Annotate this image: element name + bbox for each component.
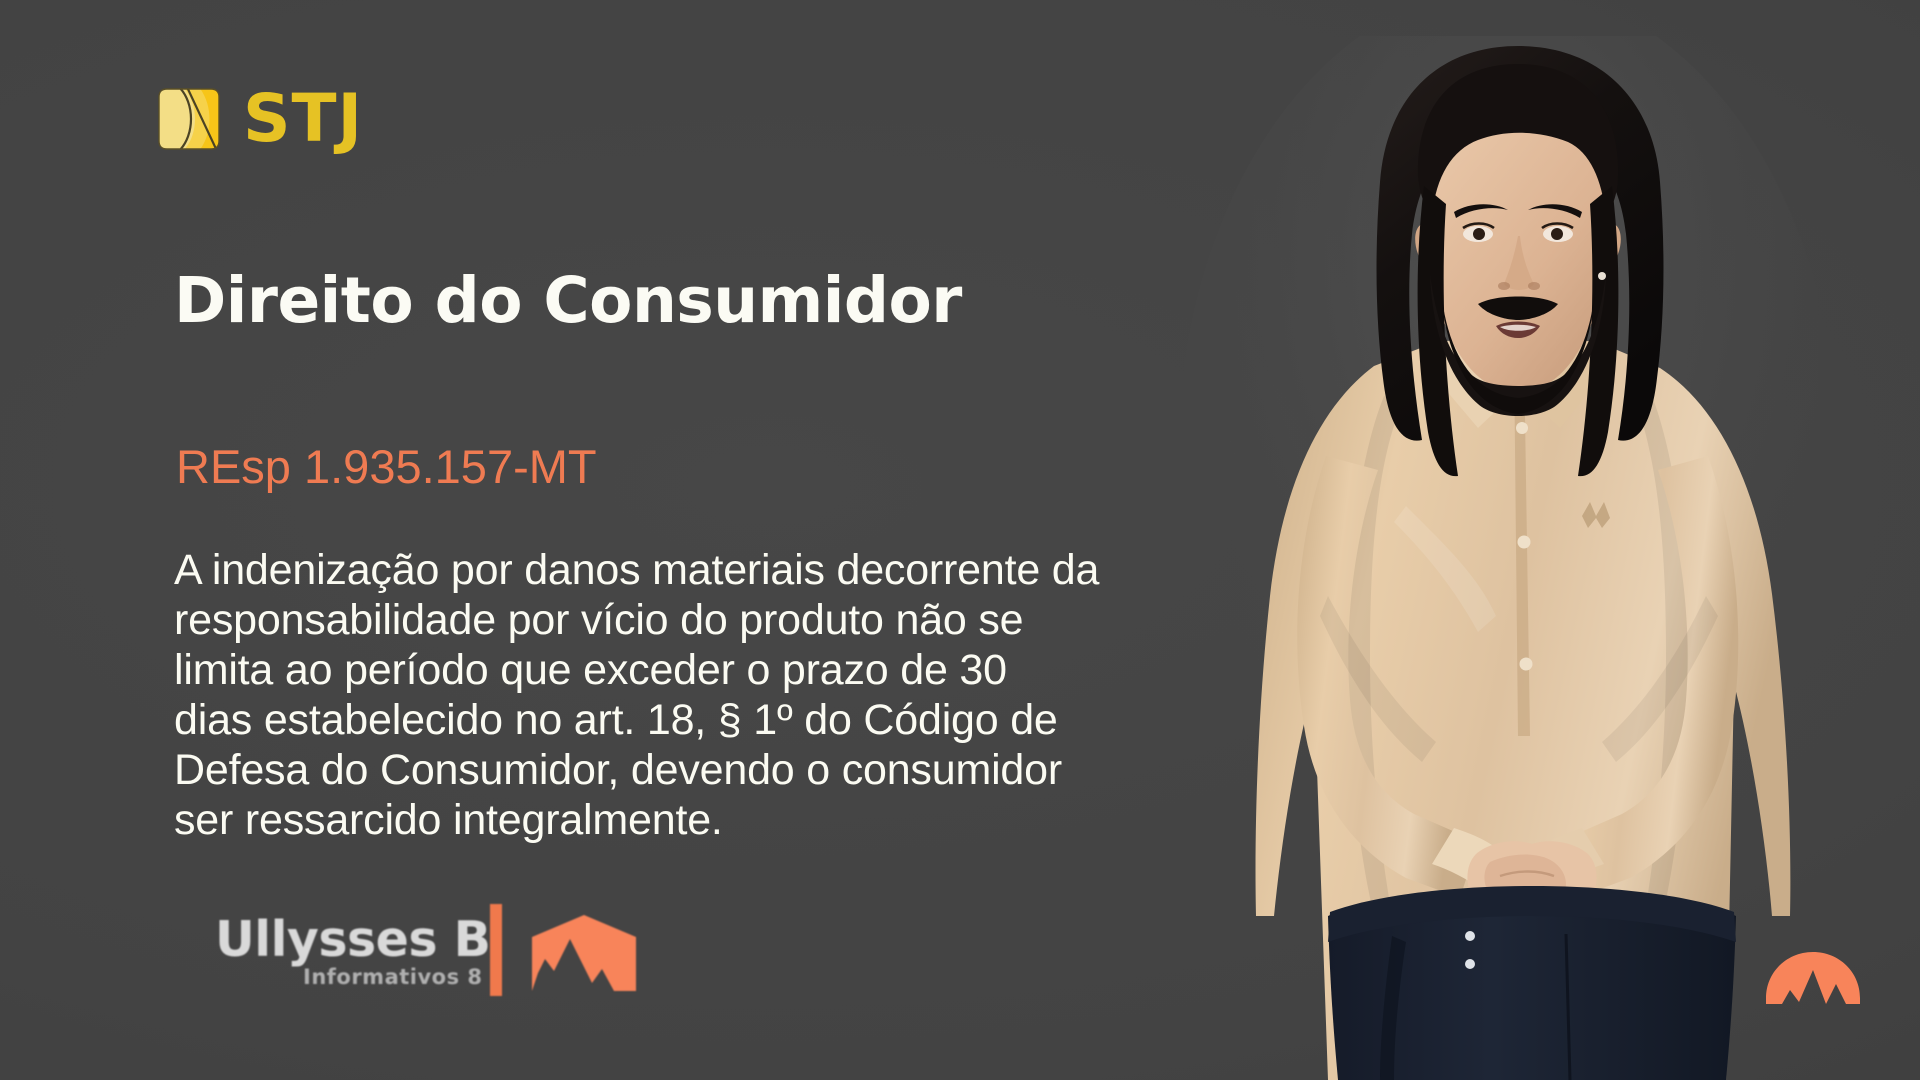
slide-title: Direito do Consumidor [174,268,962,334]
mountain-dome-logo-icon [1766,952,1860,1032]
stj-brand-lockup: STJ [157,86,363,152]
body-line: dias estabelecido no art. 18, § 1º do Có… [174,695,1354,745]
slide-canvas: STJ Direito do Consumidor REsp 1.935.157… [0,0,1920,1080]
body-line: ser ressarcido integralmente. [174,795,1354,845]
stj-logo-mark-icon [157,87,221,151]
case-number: REsp 1.935.157-MT [176,443,597,490]
body-line: Defesa do Consumidor, devendo o consumid… [174,745,1354,795]
channel-watermark: Ullysses Brag Informativos 8 [215,895,638,996]
watermark-subtitle: Informativos 8 [303,965,483,989]
watermark-name: Ullysses Brag [215,911,490,968]
body-line: A indenização por danos materiais decorr… [174,545,1354,595]
stj-wordmark: STJ [243,86,363,152]
vertical-accent-bar-icon [490,904,502,996]
body-line: limita ao período que exceder o prazo de… [174,645,1354,695]
body-line: responsabilidade por vício do produto nã… [174,595,1354,645]
slide-body-text: A indenização por danos materiais decorr… [174,545,1354,845]
mountain-peak-icon [530,913,638,993]
watermark-text-block: Ullysses Brag Informativos 8 [215,895,490,991]
